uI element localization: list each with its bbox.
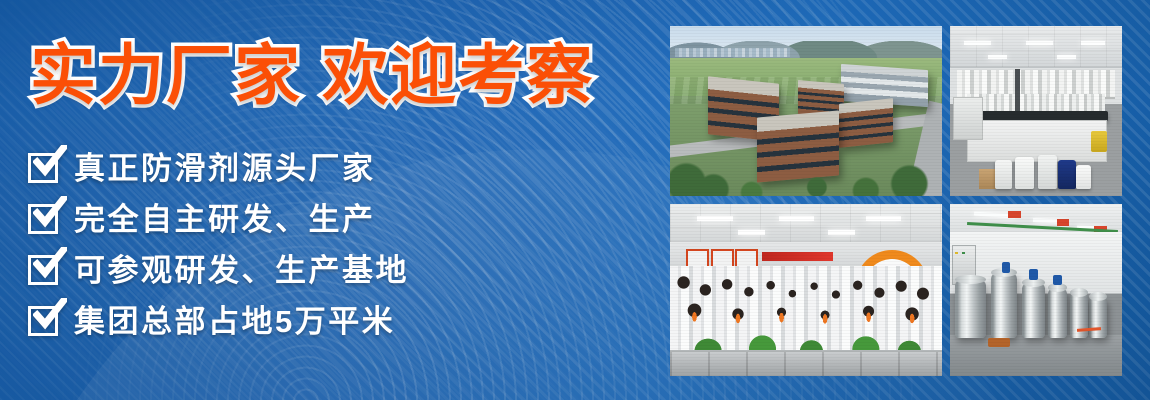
- banner-headline: 实力厂家 欢迎考察: [30, 42, 594, 108]
- production-tanks-photo: [950, 204, 1122, 376]
- checkbox-checked-icon: [28, 306, 58, 336]
- list-item-label: 可参观研发、生产基地: [74, 255, 409, 286]
- list-item-label: 完全自主研发、生产: [74, 204, 376, 235]
- checkbox-checked-icon: [28, 255, 58, 285]
- list-item: 集团总部占地5万平米: [28, 297, 608, 345]
- list-item: 可参观研发、生产基地: [28, 246, 608, 294]
- photo-gallery: [670, 26, 1122, 376]
- laboratory-photo: [950, 26, 1122, 196]
- list-item-label: 集团总部占地5万平米: [74, 306, 395, 337]
- text-column: 实力厂家 欢迎考察 真正防滑剂源头厂家 完全自主研发、生产: [0, 0, 640, 400]
- staff-office-photo: [670, 204, 942, 376]
- list-item: 完全自主研发、生产: [28, 195, 608, 243]
- list-item-label: 真正防滑剂源头厂家: [74, 153, 376, 184]
- checkbox-checked-icon: [28, 153, 58, 183]
- aerial-campus-photo: [670, 26, 942, 196]
- feature-list: 真正防滑剂源头厂家 完全自主研发、生产 可参观研发、生产基地: [28, 144, 608, 348]
- promo-banner: 实力厂家 欢迎考察 真正防滑剂源头厂家 完全自主研发、生产: [0, 0, 1150, 400]
- checkbox-checked-icon: [28, 204, 58, 234]
- list-item: 真正防滑剂源头厂家: [28, 144, 608, 192]
